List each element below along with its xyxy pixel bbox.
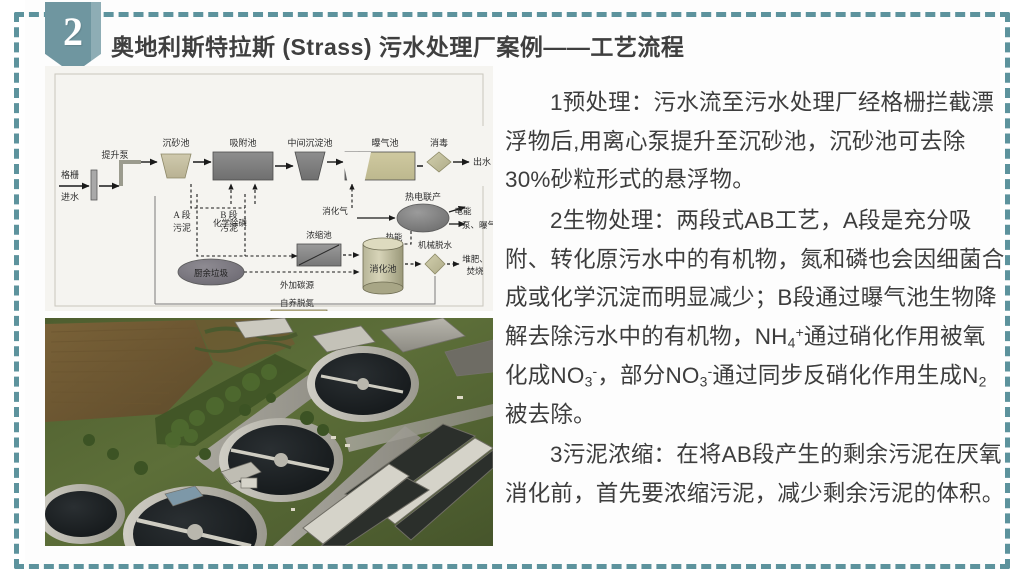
aerial-plant-photo: [45, 318, 493, 546]
body-text-column: 1预处理：污水流至污水处理厂经格栅拦截漂浮物后,用离心泵提升至沉砂池，沉砂池可去…: [505, 84, 1005, 516]
paragraph-sludge-thickening: 3污泥浓缩：在将AB段产生的剩余污泥在厌氧消化前，首先要浓缩污泥，减少剩余污泥的…: [505, 436, 1005, 513]
svg-text:厨余垃圾: 厨余垃圾: [194, 268, 229, 278]
paragraph-biological: 2生物处理：两段式AB工艺，A段是充分吸附、转化原污水中的有机物，氮和磷也会因细…: [505, 202, 1005, 434]
svg-text:消毒: 消毒: [430, 137, 448, 148]
process-flow-diagram: 沉砂池 吸附池 中间沉淀池 曝气池 提升泵 格栅 进水 化学除磷: [45, 66, 493, 311]
paragraph-pretreatment: 1预处理：污水流至污水处理厂经格栅拦截漂浮物后,用离心泵提升至沉砂池，沉砂池可去…: [505, 84, 1005, 200]
svg-text:机械脱水: 机械脱水: [418, 240, 453, 250]
svg-text:消化池: 消化池: [369, 263, 396, 274]
svg-text:热电联产: 热电联产: [405, 191, 441, 202]
slide-header: 2 奥地利斯特拉斯 (Strass) 污水处理厂案例——工艺流程: [45, 18, 725, 64]
svg-text:自养脱氮: 自养脱氮: [280, 298, 315, 308]
svg-text:堆肥、: 堆肥、: [462, 254, 488, 264]
page-title: 奥地利斯特拉斯 (Strass) 污水处理厂案例——工艺流程: [111, 28, 684, 62]
n2-subscript: 2: [979, 373, 987, 389]
no3-subscript-1: 3: [585, 373, 593, 389]
svg-text:出水: 出水: [473, 156, 491, 167]
svg-text:污泥: 污泥: [173, 222, 191, 233]
svg-text:泵、曝气: 泵、曝气: [462, 220, 493, 230]
svg-text:焚烧: 焚烧: [466, 266, 484, 276]
svg-text:电能: 电能: [454, 206, 472, 216]
svg-text:B 段: B 段: [220, 209, 237, 220]
svg-text:A 段: A 段: [173, 209, 190, 220]
badge-number-label: 2: [45, 12, 101, 52]
bio-text-3: ，部分NO: [597, 363, 699, 388]
nh4-subscript: 4: [788, 335, 796, 351]
no3-subscript-2: 3: [700, 373, 708, 389]
svg-text:外加碳源: 外加碳源: [280, 280, 315, 290]
process-flow-svg-right: 消毒 出水 热电联产 电能 泵、曝气 消化气 热能 浓缩池: [45, 66, 493, 311]
bio-text-4: 通过同步反硝化作用生成N: [712, 363, 978, 388]
aerial-photo-svg: [45, 318, 493, 546]
nh4-superscript: +: [796, 324, 804, 340]
svg-text:消化气: 消化气: [322, 206, 348, 216]
slide-page: 2 奥地利斯特拉斯 (Strass) 污水处理厂案例——工艺流程: [0, 0, 1024, 581]
step-number-badge: 2: [45, 2, 101, 74]
svg-text:浓缩池: 浓缩池: [306, 230, 332, 240]
left-media-column: 沉砂池 吸附池 中间沉淀池 曝气池 提升泵 格栅 进水 化学除磷: [45, 66, 493, 546]
svg-text:污泥: 污泥: [220, 222, 238, 233]
bio-text-5: 被去除。: [505, 402, 596, 427]
